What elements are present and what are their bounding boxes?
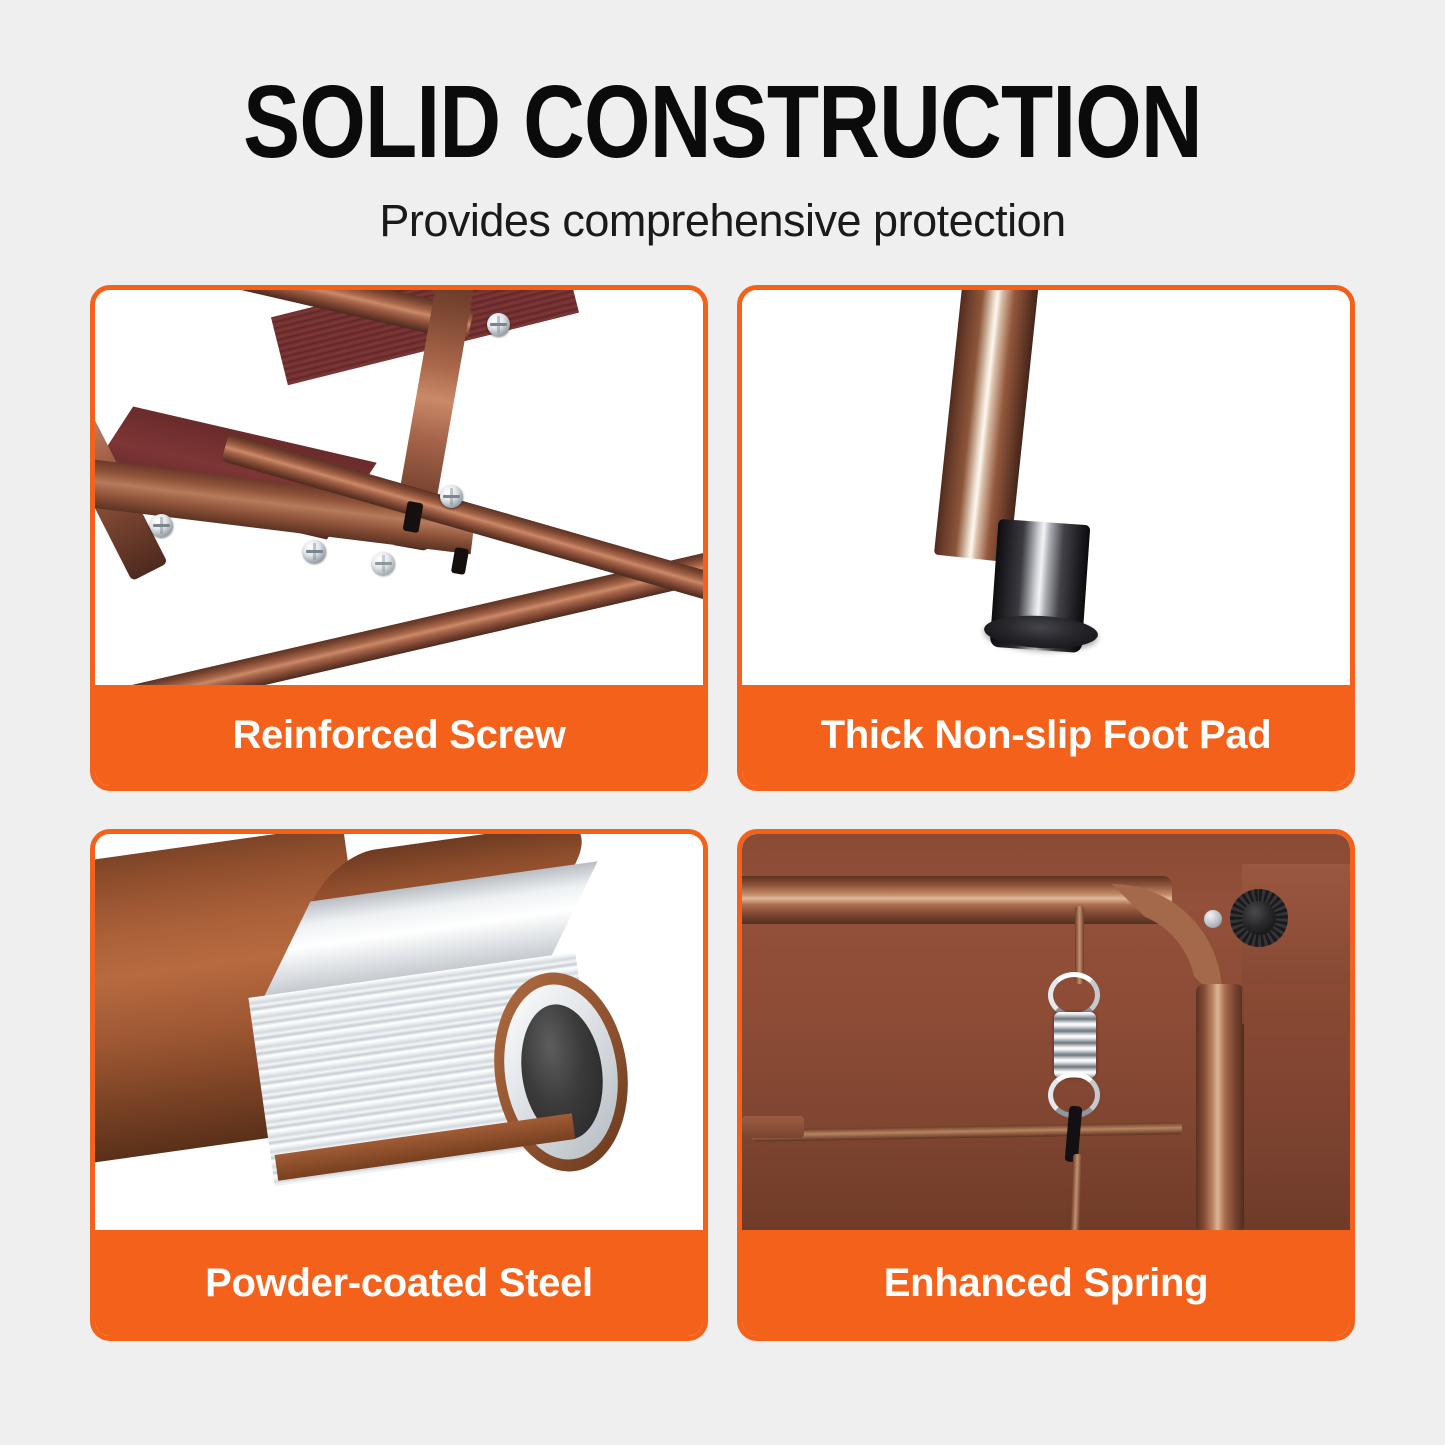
feature-card-foot-pad[interactable]: Thick Non-slip Foot Pad [737, 285, 1355, 791]
frame-post-vertical [1196, 984, 1244, 1230]
armrest-screw-head [1204, 910, 1222, 928]
foot-pad-photo [742, 290, 1350, 685]
seat-top-rail [742, 876, 1172, 924]
infographic-page: SOLID CONSTRUCTION Provides comprehensiv… [0, 0, 1445, 1445]
screw-top-right [487, 313, 510, 336]
header: SOLID CONSTRUCTION Provides comprehensiv… [0, 0, 1445, 247]
enhanced-spring-photo [742, 834, 1350, 1230]
card-caption-reinforced-screw: Reinforced Screw [95, 685, 703, 786]
card-caption-foot-pad: Thick Non-slip Foot Pad [742, 685, 1350, 786]
reinforced-screw-photo [95, 290, 703, 685]
feature-card-powder-coated-steel[interactable]: Powder-coated Steel [90, 829, 708, 1341]
page-title: SOLID CONSTRUCTION [123, 70, 1322, 173]
feature-card-reinforced-screw[interactable]: Reinforced Screw [90, 285, 708, 791]
card-caption-enhanced-spring: Enhanced Spring [742, 1230, 1350, 1336]
spring-coil [1054, 1012, 1096, 1078]
side-panel-cushion [1244, 984, 1350, 1230]
screw-brace-2 [303, 540, 326, 563]
fabric-tab-left [742, 1116, 804, 1138]
page-subtitle: Provides comprehensive protection [0, 195, 1445, 247]
feature-card-grid: Reinforced Screw Thick Non-slip Foot Pad [90, 285, 1355, 1341]
feature-card-enhanced-spring[interactable]: Enhanced Spring [737, 829, 1355, 1341]
card-caption-powder-coated-steel: Powder-coated Steel [95, 1230, 703, 1336]
screw-mid-right [440, 485, 463, 508]
screw-brace-1 [150, 514, 173, 537]
armrest-knob-center [1242, 901, 1276, 935]
frame-clip-lower [451, 547, 469, 575]
screw-brace-3 [372, 552, 395, 575]
powder-coated-steel-photo [95, 834, 703, 1230]
